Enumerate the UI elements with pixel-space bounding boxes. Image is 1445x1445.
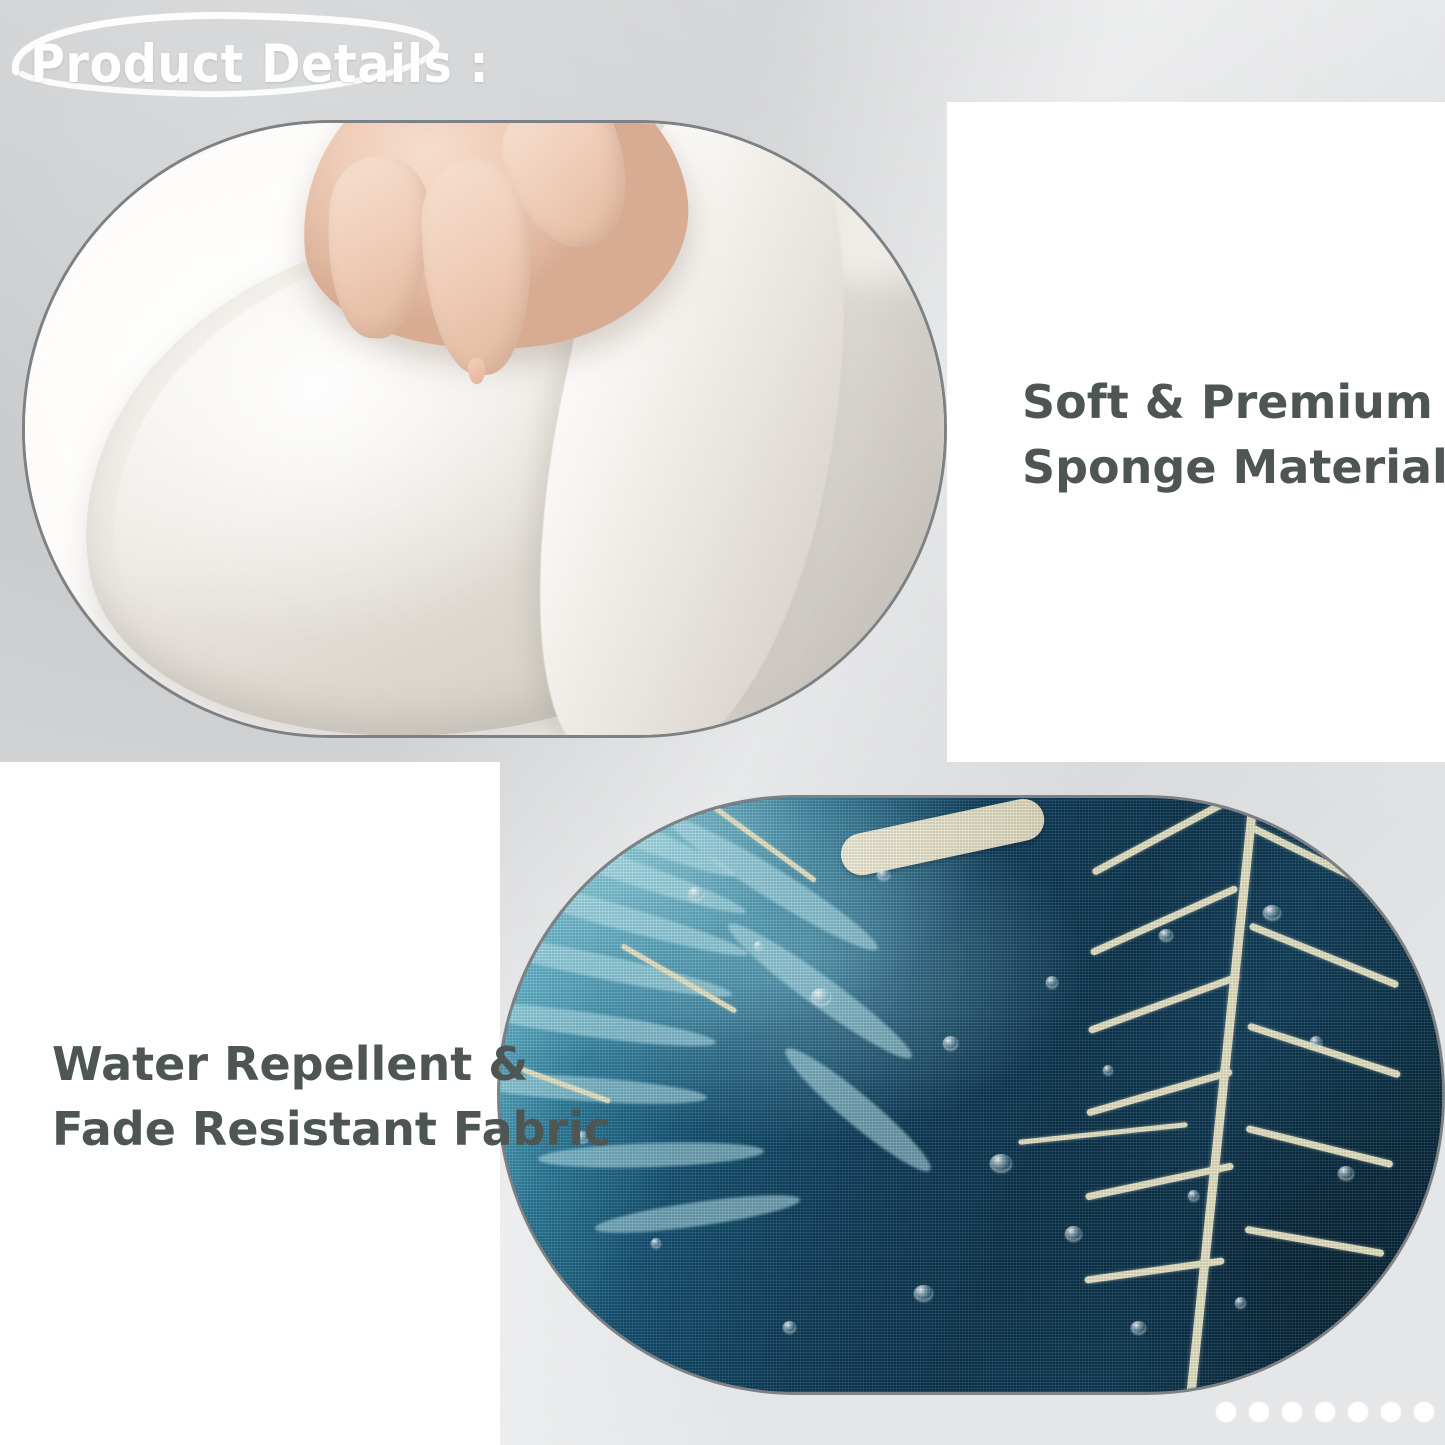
caption-fabric-line2: Fade Resistant Fabric xyxy=(52,1097,611,1162)
caption-fabric: Water Repellent & Fade Resistant Fabric xyxy=(52,1032,611,1163)
caption-fabric-line1: Water Repellent & xyxy=(52,1032,611,1097)
photo-water-repellent-fabric xyxy=(497,795,1445,1395)
product-details-page: Product Details : Soft & Premium Sponge … xyxy=(0,0,1445,1445)
pager-dots[interactable] xyxy=(1216,1402,1445,1422)
pager-dot[interactable] xyxy=(1249,1402,1269,1422)
pager-dot[interactable] xyxy=(1315,1402,1335,1422)
caption-sponge-line1: Soft & Premium xyxy=(1022,370,1445,435)
page-title: Product Details : xyxy=(30,34,489,95)
page-title-block: Product Details : xyxy=(0,0,520,120)
pager-dot[interactable] xyxy=(1381,1402,1401,1422)
caption-sponge-line2: Sponge Material xyxy=(1022,435,1445,500)
pager-dot[interactable] xyxy=(1414,1402,1434,1422)
caption-sponge: Soft & Premium Sponge Material xyxy=(1022,370,1445,501)
fabric-weave-texture xyxy=(500,798,1442,1392)
pager-dot[interactable] xyxy=(1216,1402,1236,1422)
hand-pinching-foam xyxy=(286,120,701,369)
photo-sponge-material xyxy=(22,120,947,738)
pager-dot[interactable] xyxy=(1348,1402,1368,1422)
pager-dot[interactable] xyxy=(1282,1402,1302,1422)
